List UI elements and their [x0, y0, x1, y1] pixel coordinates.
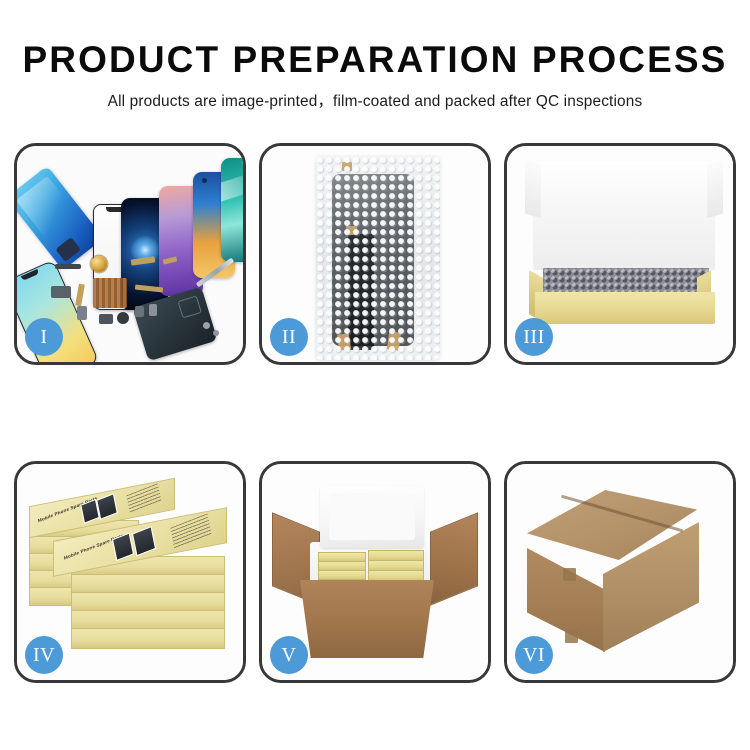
- step-6-illustration: VI: [507, 464, 733, 680]
- camera-ring-part-icon: [91, 256, 107, 272]
- gray-foam-padding-icon: [543, 268, 709, 294]
- step-4-illustration: Mobile Phone Spare Parts Mobile Phone Sp…: [17, 464, 243, 680]
- step-panel-4: Mobile Phone Spare Parts Mobile Phone Sp…: [14, 461, 246, 683]
- process-step-grid: I II: [14, 143, 736, 688]
- page-title: PRODUCT PREPARATION PROCESS: [0, 0, 750, 80]
- screw-part-icon: [203, 322, 210, 329]
- step-panel-5: V: [259, 461, 491, 683]
- step-badge-4: IV: [25, 636, 63, 674]
- step-badge-6: VI: [515, 636, 553, 674]
- bubble-texture-icon: [316, 156, 440, 360]
- step-3-illustration: III: [507, 146, 733, 362]
- step-badge-2: II: [270, 318, 308, 356]
- step-panel-3: III: [504, 143, 736, 365]
- phone-screen-teal-icon: [221, 158, 243, 262]
- step-panel-6: VI: [504, 461, 736, 683]
- step-badge-5: V: [270, 636, 308, 674]
- step-panel-1: I: [14, 143, 246, 365]
- small-part-icon: [55, 264, 81, 269]
- carton-tape-icon: [563, 568, 576, 581]
- foam-lid-icon: [533, 162, 715, 270]
- sim-tray-part-icon: [149, 304, 157, 316]
- bubble-wrap-package-icon: [316, 156, 440, 360]
- step-badge-1: I: [25, 318, 63, 356]
- page-subtitle: All products are image-printed，film-coat…: [0, 80, 750, 111]
- small-part-icon: [51, 286, 71, 298]
- small-part-icon: [99, 314, 113, 324]
- product-preparation-infographic: PRODUCT PREPARATION PROCESS All products…: [0, 0, 750, 750]
- small-part-icon: [135, 306, 144, 317]
- step-5-illustration: V: [262, 464, 488, 680]
- small-part-icon: [77, 306, 87, 320]
- screw-part-icon: [213, 330, 219, 336]
- step-panel-2: II: [259, 143, 491, 365]
- step-1-illustration: I: [17, 146, 243, 362]
- speaker-part-icon: [117, 312, 129, 324]
- foam-lid-icon: [320, 486, 424, 548]
- carton-body-icon: [300, 580, 434, 658]
- step-badge-3: III: [515, 318, 553, 356]
- yellow-box-front-icon: [535, 292, 715, 324]
- header: PRODUCT PREPARATION PROCESS All products…: [0, 0, 750, 111]
- carton-tape-icon: [565, 630, 578, 643]
- screw-mat-part-icon: [93, 278, 127, 308]
- step-2-illustration: II: [262, 146, 488, 362]
